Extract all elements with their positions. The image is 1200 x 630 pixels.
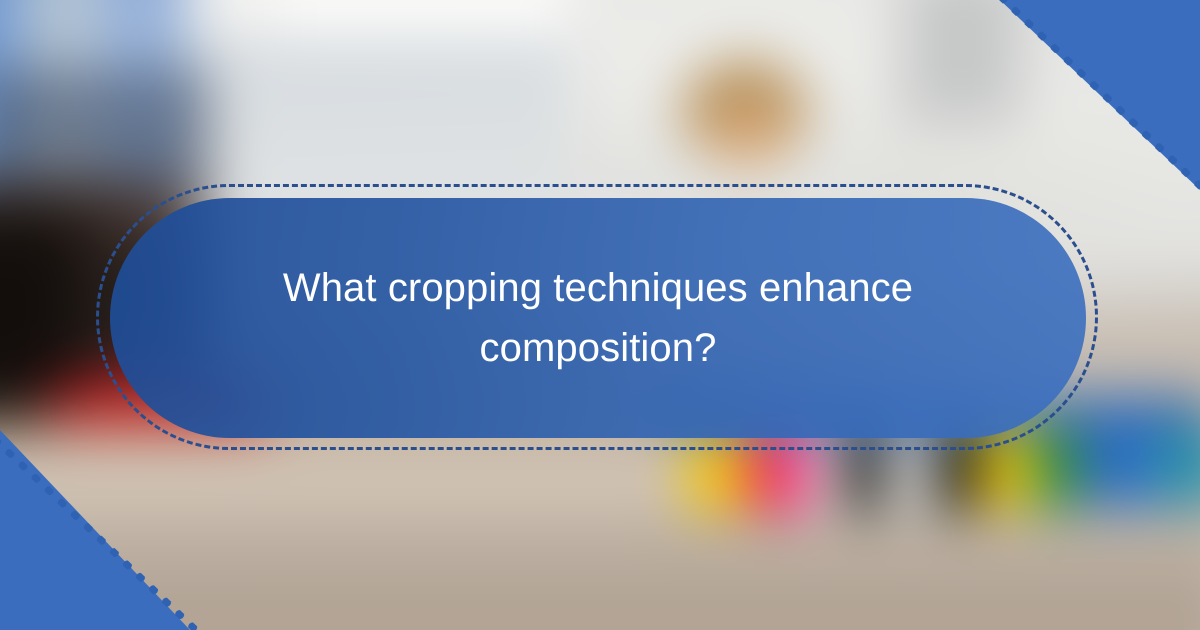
background-wall-panel (904, 0, 1020, 121)
background-supply-teal (1152, 427, 1200, 507)
background-supply-white-1 (810, 427, 848, 511)
background-supply-yellow (686, 434, 734, 512)
background-supply-green (1033, 429, 1081, 509)
question-text: What cropping techniques enhance composi… (248, 258, 948, 378)
background-supply-white-2 (888, 427, 932, 513)
background-supply-magenta (757, 432, 807, 514)
background-ceiling-light-inner (274, 0, 589, 33)
background-supply-blue (1081, 423, 1155, 507)
background-supply-black-1 (844, 425, 888, 513)
background-supply-yellow-2 (978, 427, 1033, 509)
background-supply-orange (734, 436, 757, 512)
background-monitor-left (0, 213, 75, 412)
background-supply-black-2 (932, 425, 978, 513)
background-person-face (707, 100, 789, 167)
banner-canvas: What cropping techniques enhance composi… (0, 0, 1200, 630)
question-card: What cropping techniques enhance composi… (110, 198, 1086, 438)
